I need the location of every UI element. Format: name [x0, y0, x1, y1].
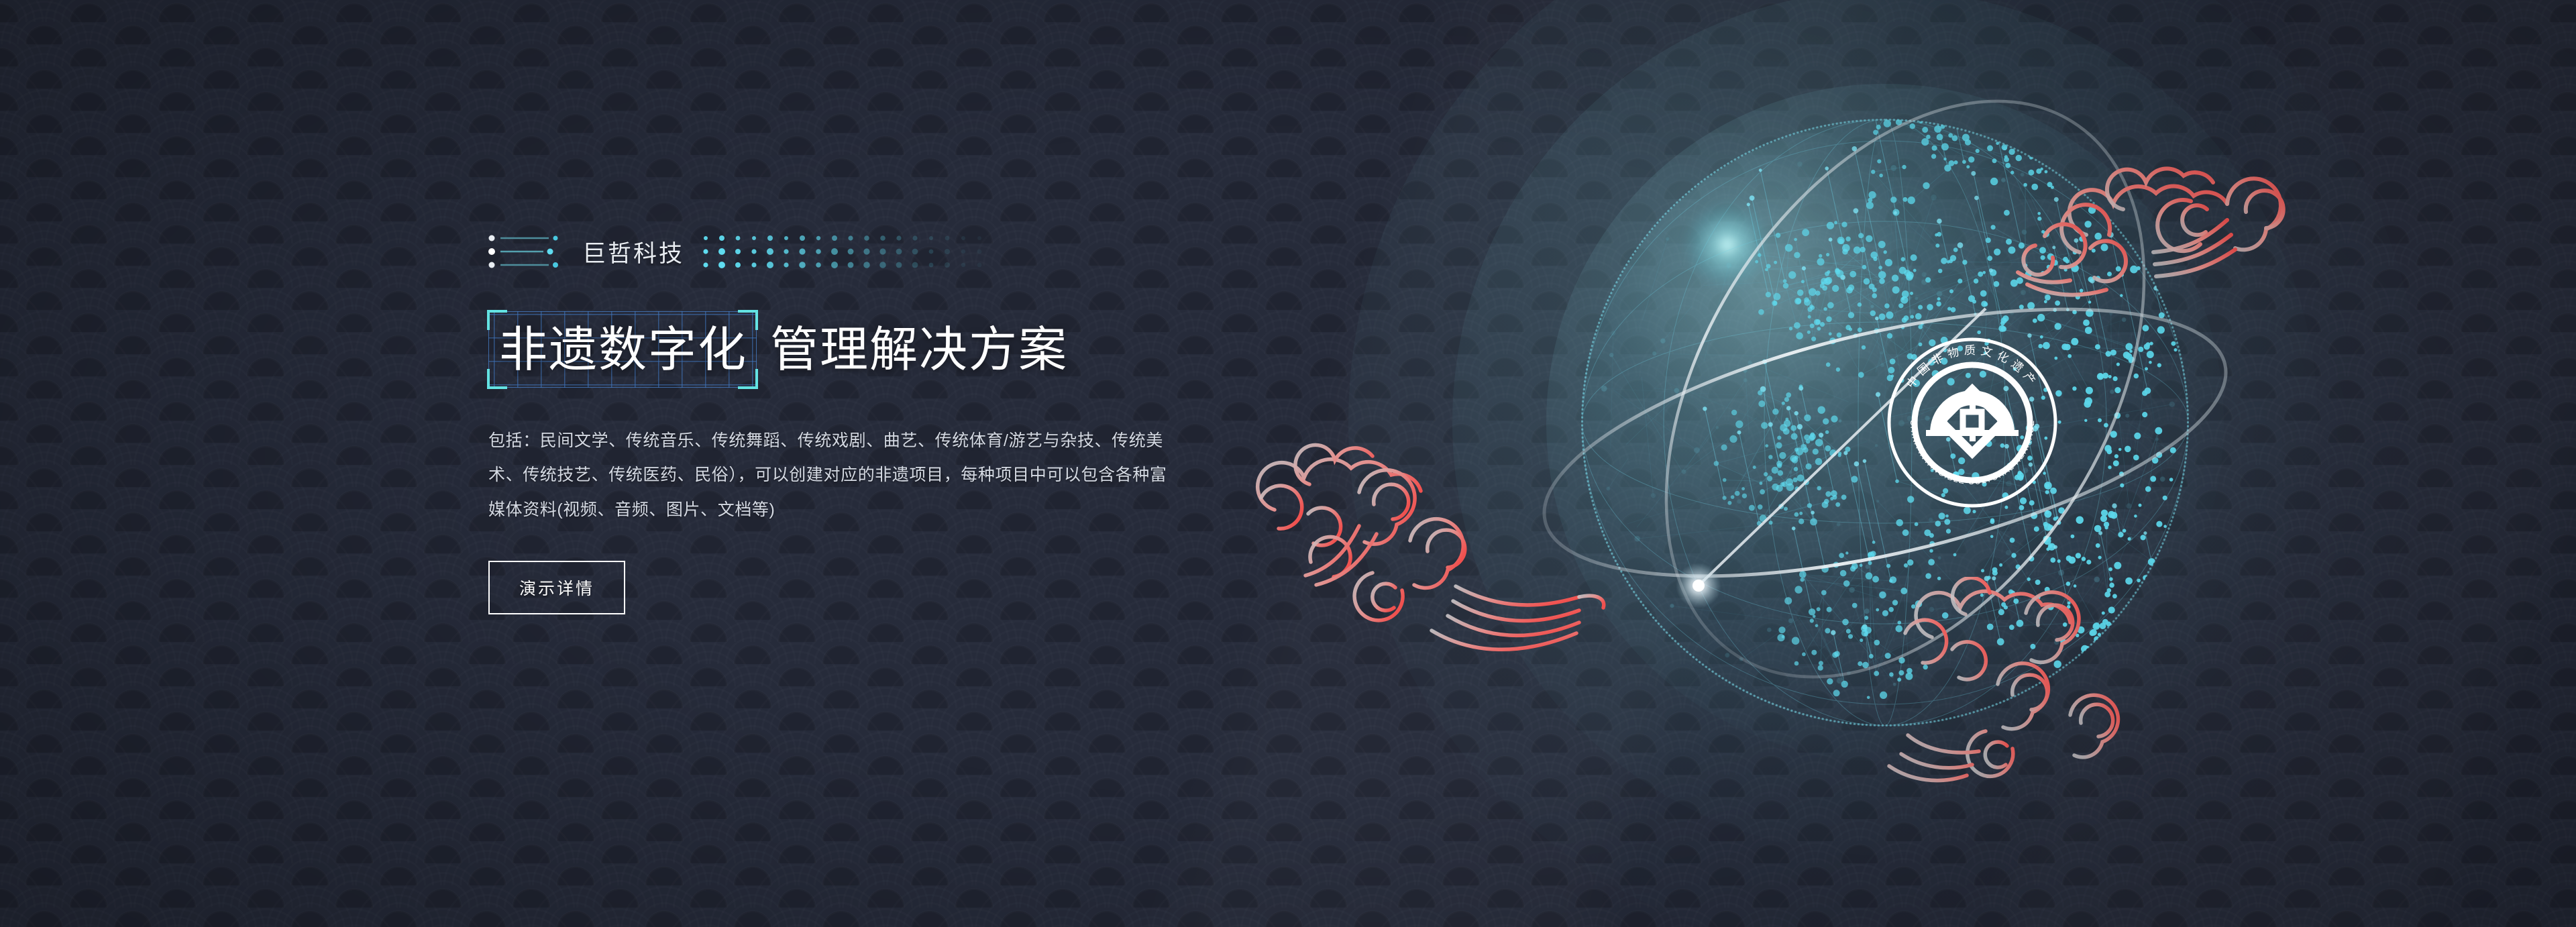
brand-name: 巨哲科技	[582, 235, 684, 269]
brand-row: 巨哲科技	[488, 228, 1240, 275]
description-text: 包括：民间文学、传统音乐、传统舞蹈、传统戏剧、曲艺、传统体育/游艺与杂技、传统美…	[488, 424, 1179, 527]
hero-content: 巨哲科技	[488, 228, 1240, 614]
seigaiha-wave-pattern-offset-icon	[0, 0, 2576, 927]
page-title: 非遗数字化 管理解决方案	[488, 311, 1240, 388]
headline-rest-text: 管理解决方案	[770, 311, 1068, 374]
triple-line-dot-icon	[488, 230, 569, 273]
dot-matrix-icon	[702, 231, 983, 272]
demo-details-button[interactable]: 演示详情	[488, 561, 625, 614]
headline-highlight-box: 非遗数字化	[488, 311, 757, 388]
hero-banner: 中国非物质文化遗产 CHINA INTANGIBLE CULTURAL HERI…	[0, 0, 2576, 927]
headline-highlight-text: 非遗数字化	[499, 323, 747, 377]
